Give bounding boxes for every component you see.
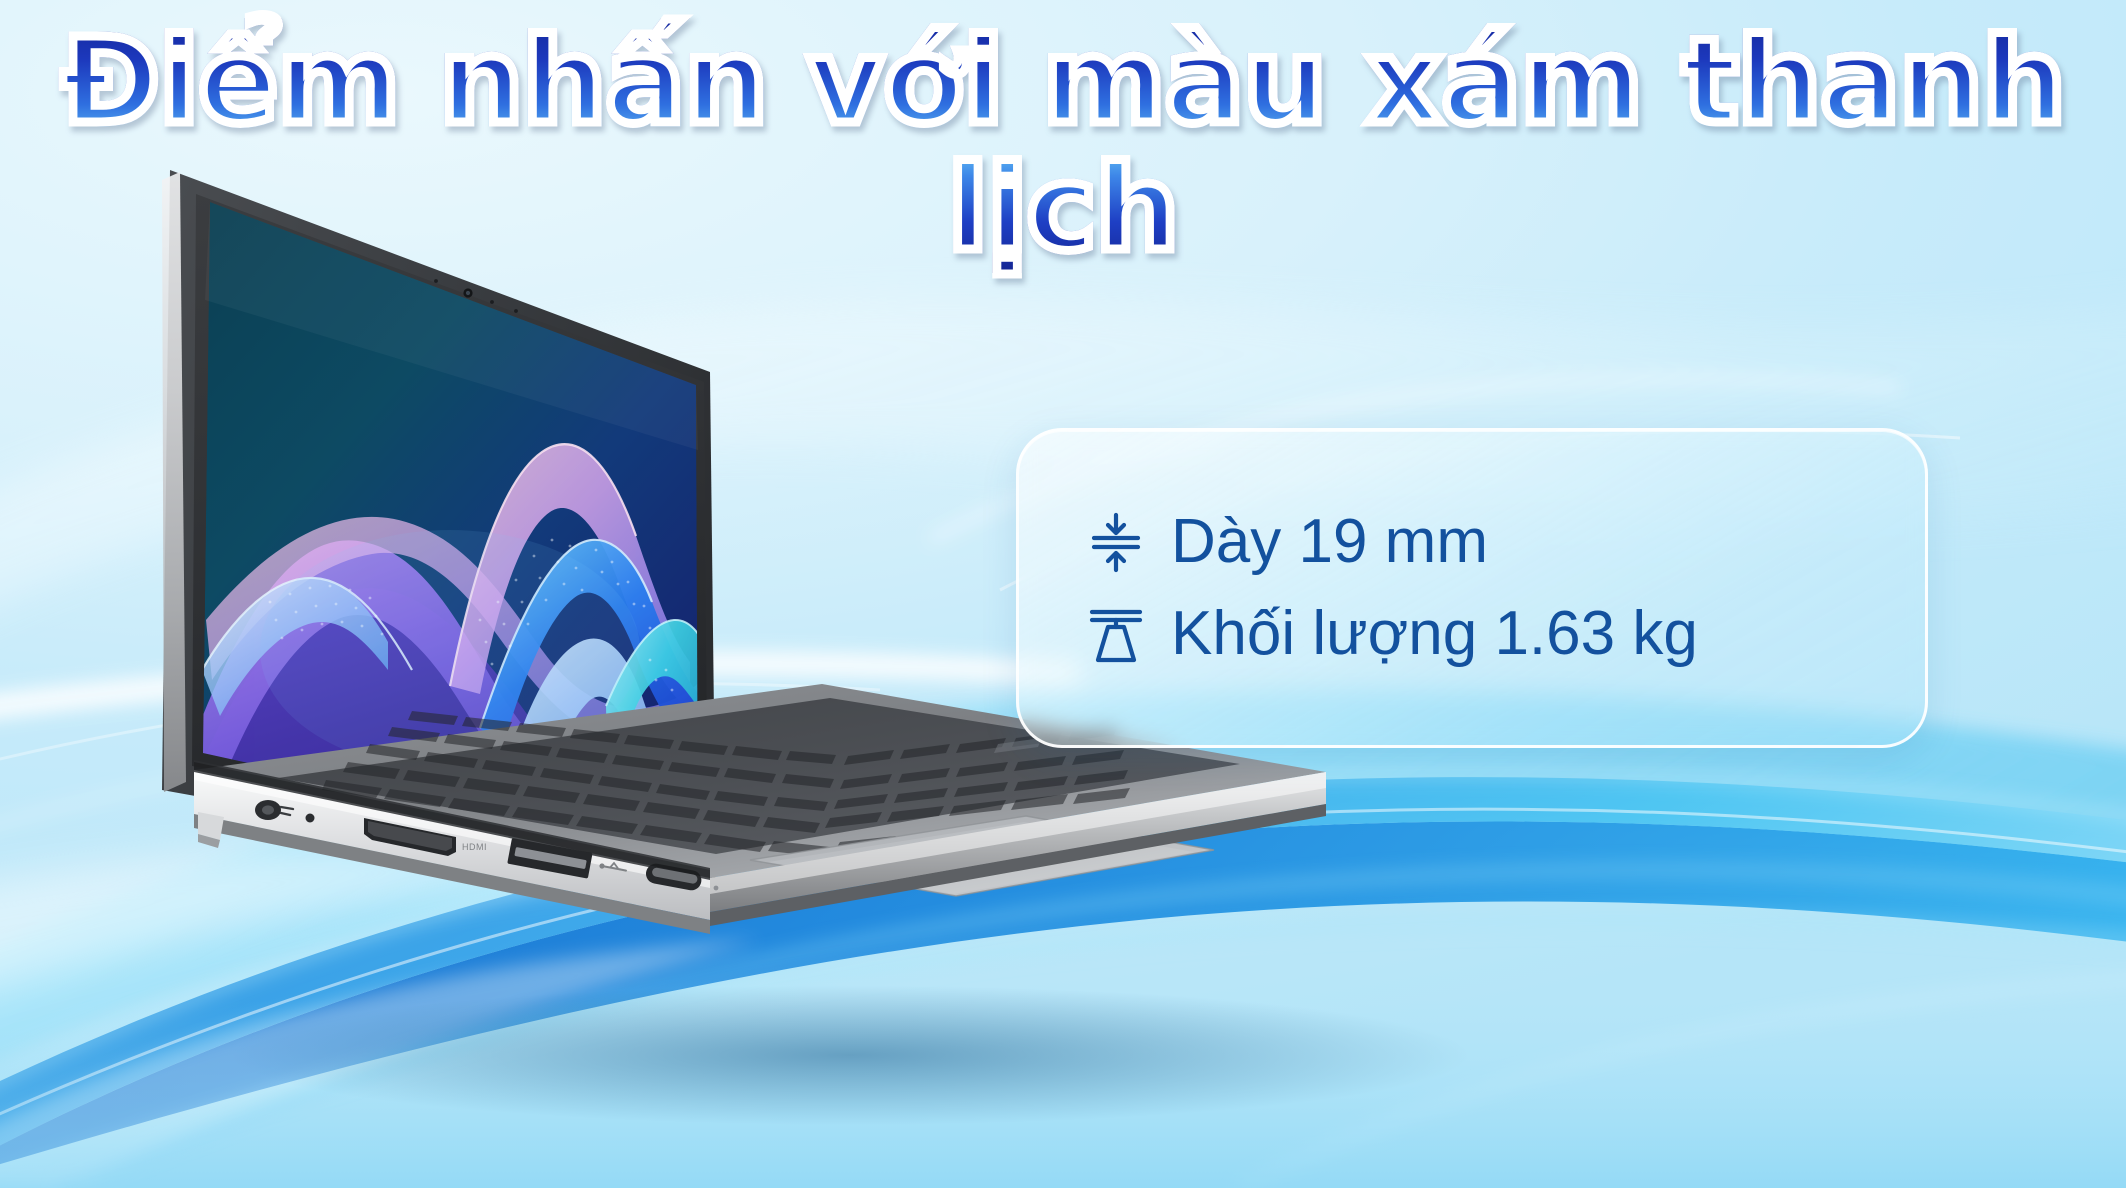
spec-row-weight: Khối lượng 1.63 kg [1087,603,1925,665]
microphone-hole [434,279,438,283]
laptop-shadow [230,985,1470,1125]
promo-banner: Điểm nhấn với màu xám thanh lịch [0,0,2126,1188]
svg-text:HDMI: HDMI [462,842,487,852]
microphone-hole [514,309,518,313]
spec-card: Dày 19 mm Khối lượng 1.63 kg [1016,428,1928,748]
status-led-indicator [306,814,315,823]
weight-scale-icon [1087,603,1145,665]
spec-row-thickness: Dày 19 mm [1087,511,1925,573]
spec-label-weight: Khối lượng 1.63 kg [1171,603,1698,665]
webcam-lens [463,288,472,297]
thickness-icon [1087,511,1145,573]
microphone-hole [490,300,494,304]
spec-label-thickness: Dày 19 mm [1171,511,1488,573]
